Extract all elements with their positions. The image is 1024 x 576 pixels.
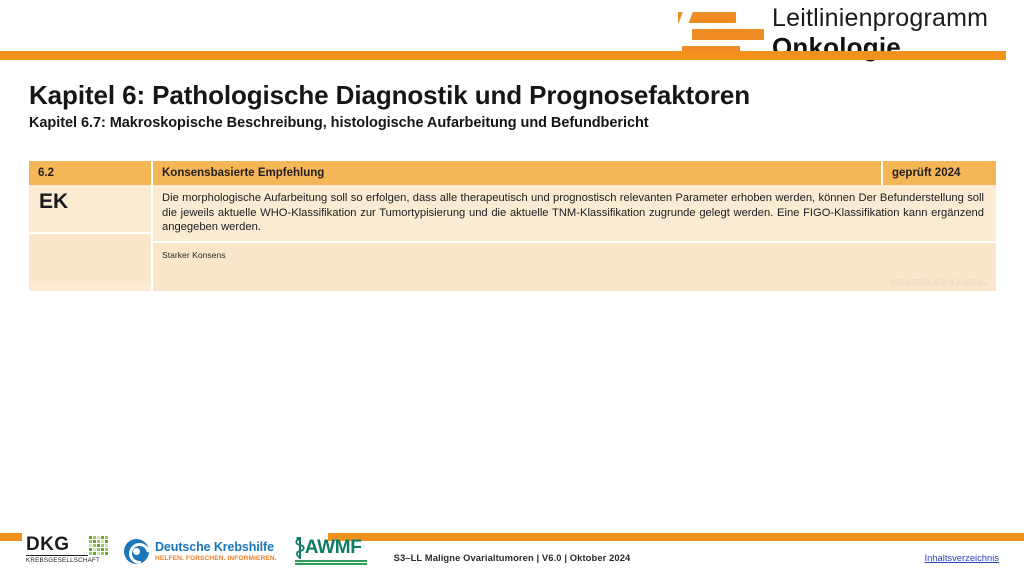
recommendation-text: Die morphologische Aufarbeitung soll so … <box>162 191 984 235</box>
recommendation-registry-code: 032-035OL-6.0-6.2-2024G <box>890 278 988 287</box>
page-subtitle: Kapitel 6.7: Makroskopische Beschreibung… <box>29 114 989 132</box>
recommendation-grade-cell: EK <box>29 185 153 291</box>
page-title: Kapitel 6: Pathologische Diagnostik und … <box>29 80 989 110</box>
recommendation-number: 6.2 <box>29 161 153 185</box>
logo-bar-middle <box>692 29 764 40</box>
table-of-contents-link[interactable]: Inhaltsverzeichnis <box>924 552 999 563</box>
recommendation-grade-wrap: EK <box>29 185 151 232</box>
logo-line-leitlinienprogramm: Leitlinienprogramm <box>772 4 1020 33</box>
footer-caption: S3–LL Maligne Ovarialtumoren | V6.0 | Ok… <box>0 552 1024 563</box>
recommendation-header-row: 6.2 Konsensbasierte Empfehlung geprüft 2… <box>29 161 996 185</box>
page-title-block: Kapitel 6: Pathologische Diagnostik und … <box>29 80 989 132</box>
header-orange-rule <box>0 51 1006 60</box>
recommendation-type: Konsensbasierte Empfehlung <box>153 161 881 185</box>
recommendation-status-badge: geprüft 2024 <box>881 161 996 185</box>
recommendation-body-row: EK Die morphologische Aufarbeitung soll … <box>29 185 996 291</box>
recommendation-consensus-strength: Starker Konsens <box>162 250 984 261</box>
recommendation-grade: EK <box>39 191 68 213</box>
recommendation-table: 6.2 Konsensbasierte Empfehlung geprüft 2… <box>29 161 996 291</box>
recommendation-meta-wrap: Starker Konsens 032-035OL-6.0-6.2-2024G <box>153 241 996 291</box>
recommendation-text-wrap: Die morphologische Aufarbeitung soll so … <box>153 185 996 241</box>
recommendation-grade-spacer <box>29 232 151 282</box>
recommendation-content-cell: Die morphologische Aufarbeitung soll so … <box>153 185 996 291</box>
